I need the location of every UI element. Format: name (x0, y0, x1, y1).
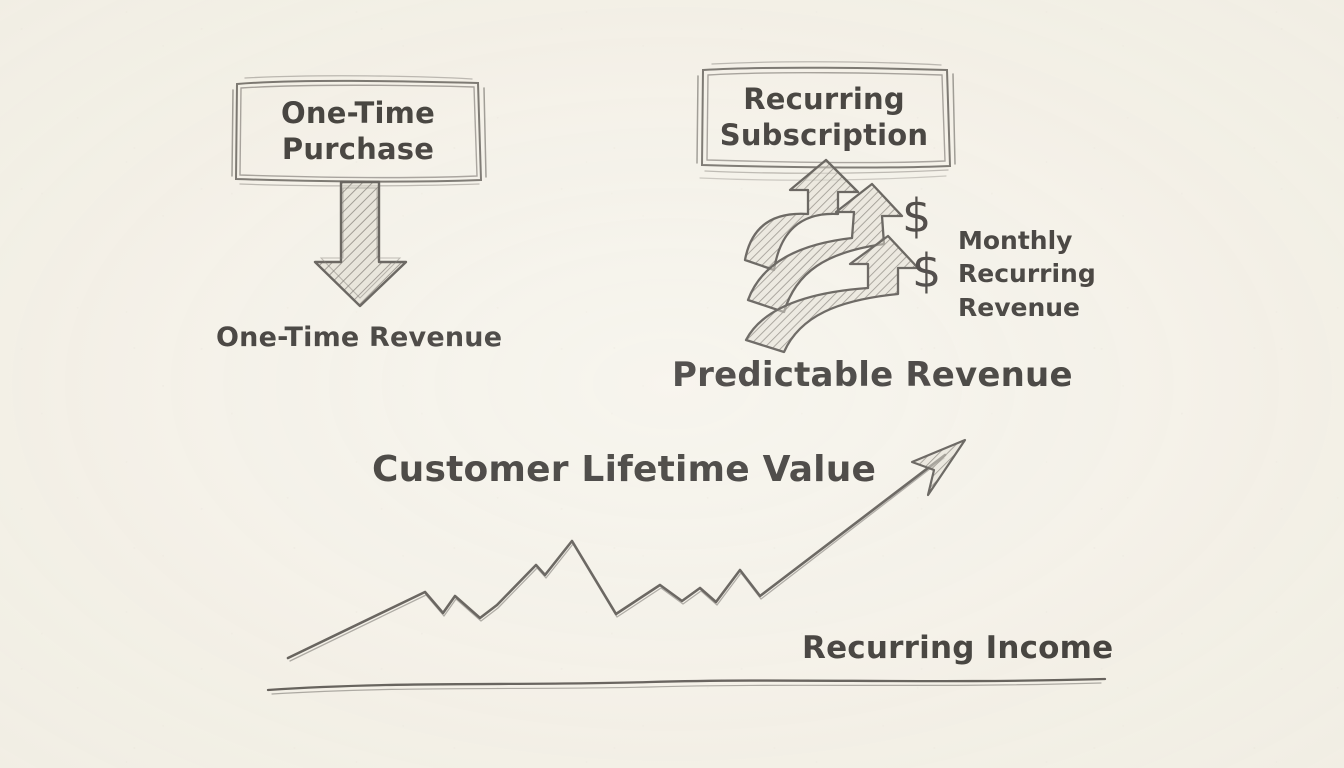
mrr-line-1: Monthly (958, 224, 1096, 257)
predictable-revenue-label: Predictable Revenue (672, 358, 1073, 394)
recurring-rising-arrows (742, 160, 918, 352)
growth-arrowhead (912, 440, 965, 495)
one-time-revenue-label: One-Time Revenue (216, 324, 502, 352)
sketch-canvas: $ $ One-Time Purchase Recurring Subscrip… (0, 0, 1344, 768)
one-time-purchase-box-outline (232, 76, 486, 186)
monthly-recurring-revenue-label: Monthly Recurring Revenue (958, 224, 1096, 324)
dollar-signs-group: $ $ (902, 189, 941, 298)
recurring-subscription-line1: Recurring (698, 84, 950, 114)
mrr-line-2: Recurring (958, 257, 1096, 290)
customer-lifetime-value-label: Customer Lifetime Value (372, 451, 876, 489)
one-time-purchase-line1: One-Time (233, 98, 483, 128)
mrr-line-3: Revenue (958, 291, 1096, 324)
recurring-income-label: Recurring Income (802, 632, 1113, 665)
dollar-sign-lower: $ (912, 244, 941, 298)
chart-baseline (268, 679, 1105, 694)
one-time-purchase-line2: Purchase (233, 134, 483, 164)
one-time-down-arrow (315, 182, 406, 306)
dollar-sign-upper: $ (902, 189, 931, 243)
recurring-subscription-line2: Subscription (698, 120, 950, 150)
